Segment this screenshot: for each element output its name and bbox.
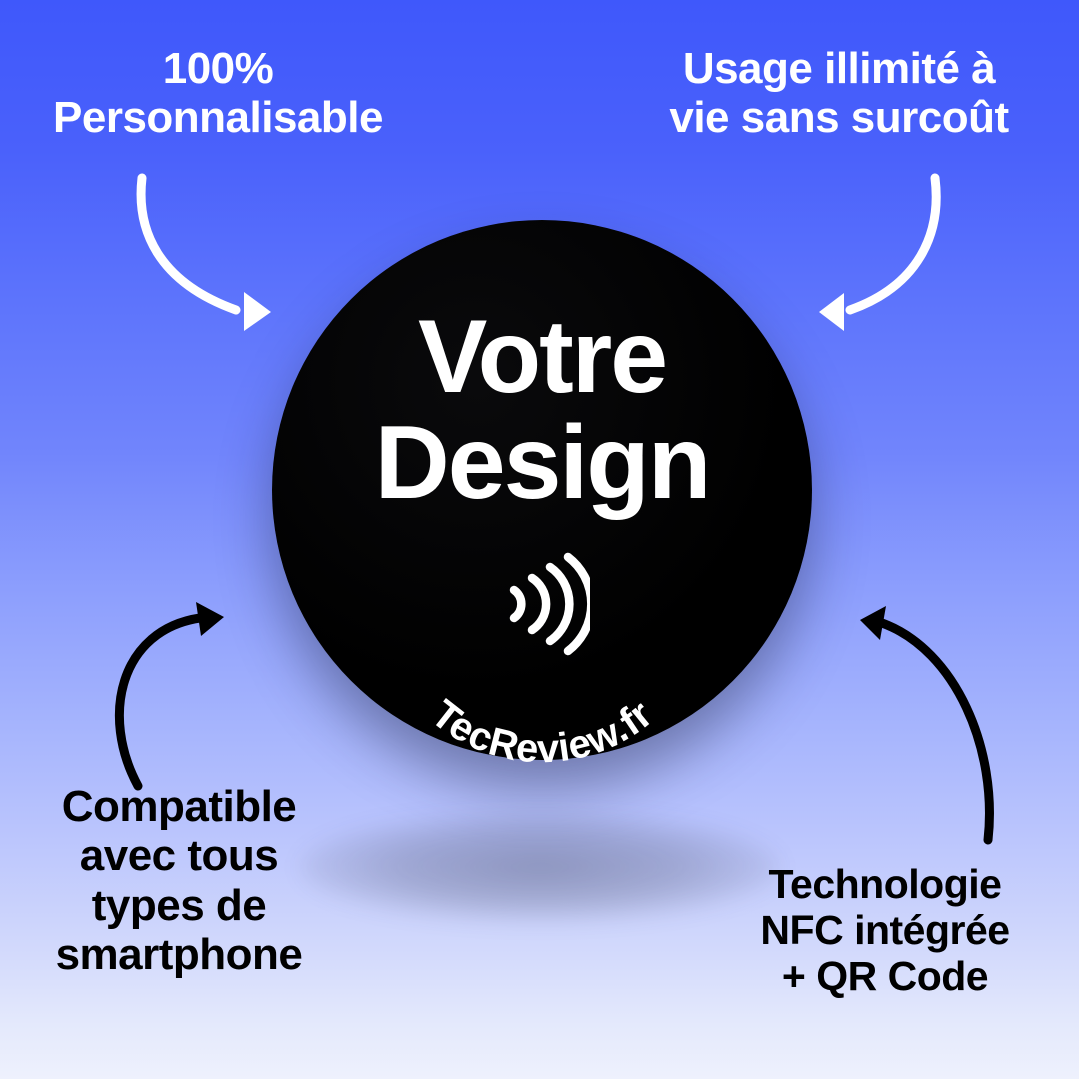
- curved-arrow-up-left-icon: [830, 590, 1020, 880]
- feature-label-compatible-smartphone: Compatible avec tous types de smartphone: [14, 782, 344, 979]
- feature-label-nfc-qr: Technologie NFC intégrée + QR Code: [725, 862, 1045, 1000]
- feature-label-usage-illimite: Usage illimité à vie sans surcoût: [639, 44, 1039, 143]
- badge-drop-shadow: [300, 812, 780, 922]
- curved-arrow-down-left-icon: [800, 160, 980, 350]
- curved-arrow-up-right-icon: [80, 590, 260, 810]
- brand-name-text: TecReview.fr: [423, 692, 661, 772]
- badge-title: Votre Design: [272, 304, 812, 516]
- brand-name-curved: TecReview.fr: [377, 640, 707, 750]
- feature-label-personnalisable: 100% Personnalisable: [18, 44, 418, 143]
- poster-canvas: 100% Personnalisable Usage illimité à vi…: [0, 0, 1079, 1079]
- product-badge-circle[interactable]: Votre Design TecReview.fr: [272, 220, 812, 760]
- svg-text:TecReview.fr: TecReview.fr: [423, 692, 661, 772]
